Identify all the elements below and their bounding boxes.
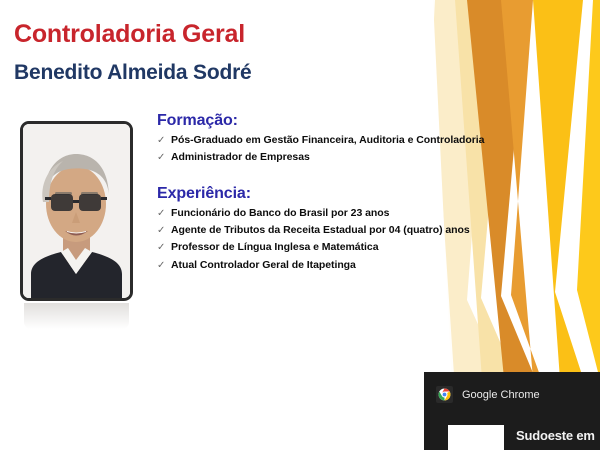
check-icon: ✓	[157, 206, 171, 222]
avatar	[20, 121, 133, 301]
overlay-caption: Sudoeste em	[516, 428, 595, 443]
presentation-slide: Controladoria Geral Benedito Almeida Sod…	[0, 0, 600, 450]
bullet-list-formacao: ✓ Pós-Graduado em Gestão Financeira, Aud…	[157, 132, 484, 166]
list-item: ✓ Administrador de Empresas	[157, 149, 484, 166]
portrait-photo	[23, 124, 130, 298]
list-item: ✓ Agente de Tributos da Receita Estadual…	[157, 222, 470, 239]
list-item: ✓ Funcionário do Banco do Brasil por 23 …	[157, 205, 470, 222]
check-icon: ✓	[157, 258, 171, 274]
section-heading: Formação:	[157, 112, 484, 130]
section-experiencia: Experiência: ✓ Funcionário do Banco do B…	[157, 185, 470, 274]
overlay-thumbnail[interactable]	[448, 425, 504, 450]
list-item-label: Professor de Língua Inglesa e Matemática	[171, 239, 378, 256]
list-item: ✓ Atual Controlador Geral de Itapetinga	[157, 257, 470, 274]
list-item: ✓ Pós-Graduado em Gestão Financeira, Aud…	[157, 132, 484, 149]
slide-title: Controladoria Geral	[14, 20, 245, 49]
photo-reflection	[24, 303, 129, 329]
list-item: ✓ Professor de Língua Inglesa e Matemáti…	[157, 239, 470, 256]
list-item-label: Agente de Tributos da Receita Estadual p…	[171, 222, 470, 239]
check-icon: ✓	[157, 240, 171, 256]
chrome-overlay-panel: Google Chrome Sudoeste em	[424, 372, 600, 450]
google-chrome-icon	[436, 386, 453, 403]
list-item-label: Atual Controlador Geral de Itapetinga	[171, 257, 356, 274]
list-item-label: Funcionário do Banco do Brasil por 23 an…	[171, 205, 389, 222]
chrome-app-entry[interactable]: Google Chrome	[436, 386, 540, 403]
list-item-label: Pós-Graduado em Gestão Financeira, Audit…	[171, 132, 484, 149]
photo-frame	[20, 121, 133, 301]
section-heading: Experiência:	[157, 185, 470, 203]
section-formacao: Formação: ✓ Pós-Graduado em Gestão Finan…	[157, 112, 484, 166]
slide-subtitle-name: Benedito Almeida Sodré	[14, 61, 252, 85]
bullet-list-experiencia: ✓ Funcionário do Banco do Brasil por 23 …	[157, 205, 470, 274]
check-icon: ✓	[157, 133, 171, 149]
check-icon: ✓	[157, 223, 171, 239]
chrome-app-label: Google Chrome	[462, 389, 540, 401]
check-icon: ✓	[157, 150, 171, 166]
list-item-label: Administrador de Empresas	[171, 149, 310, 166]
